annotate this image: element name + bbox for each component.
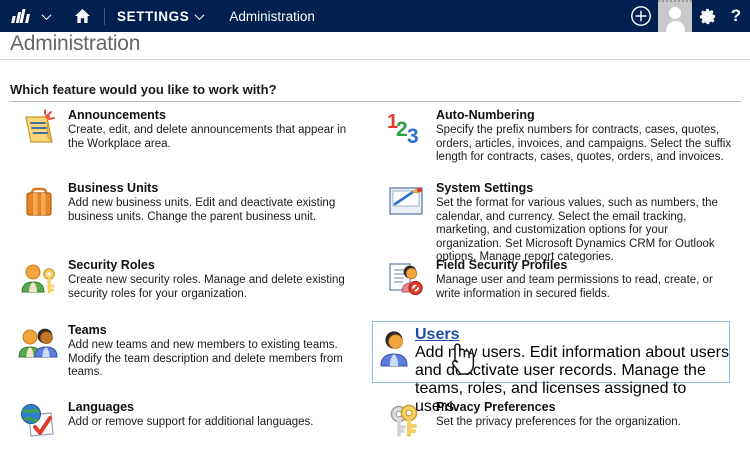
feature-announcements[interactable]: Announcements Create, edit, and delete a… <box>10 107 368 180</box>
feature-security-roles[interactable]: Security Roles Create new security roles… <box>10 257 368 330</box>
feature-title[interactable]: Field Security Profiles <box>436 258 736 273</box>
feature-description: Create new security roles. Manage and de… <box>68 274 358 301</box>
feature-text: Languages Add or remove support for addi… <box>68 399 314 472</box>
svg-text:3: 3 <box>407 125 419 148</box>
feature-text: Announcements Create, edit, and delete a… <box>68 107 358 180</box>
nav-left-group: SETTINGS Administration <box>0 0 315 32</box>
feature-teams[interactable]: Teams Add new teams and new members to e… <box>10 322 368 395</box>
page-title: Administration <box>10 32 140 56</box>
feature-text: Business Units Add new business units. E… <box>68 180 358 253</box>
nav-right-group: ? <box>624 0 750 32</box>
heading-divider <box>10 101 741 102</box>
feature-description: Set the format for various values, such … <box>436 197 736 265</box>
gear-icon[interactable] <box>692 0 722 32</box>
users-card-description: Add new users. Edit information about us… <box>415 344 729 416</box>
feature-field-security-profiles[interactable]: Field Security Profiles Manage user and … <box>378 257 736 330</box>
users-link[interactable]: Users <box>415 326 459 343</box>
feature-title[interactable]: System Settings <box>436 181 736 196</box>
user-avatar-icon[interactable] <box>658 0 692 32</box>
feature-languages[interactable]: Languages Add or remove support for addi… <box>10 399 368 472</box>
feature-title[interactable]: Auto-Numbering <box>436 108 736 123</box>
feature-description: Create, edit, and delete announcements t… <box>68 124 358 151</box>
briefcase-icon <box>10 180 68 228</box>
feature-text: Auto-Numbering Specify the prefix number… <box>436 107 736 180</box>
users-card-title[interactable]: Users <box>415 326 729 344</box>
feature-title[interactable]: Announcements <box>68 108 358 123</box>
user-key-icon <box>10 257 68 305</box>
users-card-text: Users Add new users. Edit information ab… <box>415 326 729 416</box>
feature-question-heading: Which feature would you like to work wit… <box>10 82 277 97</box>
feature-description: Set the privacy preferences for the orga… <box>436 416 681 430</box>
feature-text: Security Roles Create new security roles… <box>68 257 358 330</box>
feature-text: System Settings Set the format for vario… <box>436 180 736 253</box>
feature-title[interactable]: Business Units <box>68 181 358 196</box>
plus-circle-icon[interactable] <box>624 0 658 32</box>
feature-auto-numbering[interactable]: 1 2 3 Auto-Numbering Specify the prefix … <box>378 107 736 180</box>
feature-description: Add or remove support for additional lan… <box>68 416 314 430</box>
window-pencil-icon <box>378 180 436 228</box>
feature-system-settings[interactable]: System Settings Set the format for vario… <box>378 180 736 253</box>
feature-text: Field Security Profiles Manage user and … <box>436 257 736 330</box>
feature-business-units[interactable]: Business Units Add new business units. E… <box>10 180 368 253</box>
help-question-icon[interactable]: ? <box>722 0 750 32</box>
feature-description: Specify the prefix numbers for contracts… <box>436 124 736 165</box>
feature-description: Add new teams and new members to existin… <box>68 339 358 380</box>
users-card-inner: Users Add new users. Edit information ab… <box>373 322 729 416</box>
top-navigation-bar: SETTINGS Administration ? <box>0 0 750 32</box>
feature-users-card[interactable]: Users Add new users. Edit information ab… <box>372 321 730 383</box>
feature-description: Manage user and team permissions to read… <box>436 274 736 301</box>
svg-text:2: 2 <box>396 118 408 141</box>
two-users-icon <box>10 322 68 370</box>
settings-label: SETTINGS <box>117 9 189 24</box>
numbers-123-icon: 1 2 3 <box>378 107 436 155</box>
user-dark-hair-icon <box>375 326 415 416</box>
feature-title[interactable]: Languages <box>68 400 314 415</box>
nav-divider <box>104 8 105 25</box>
page-header: Administration <box>0 32 750 60</box>
feature-title[interactable]: Teams <box>68 323 358 338</box>
chevron-down-icon[interactable] <box>191 0 207 32</box>
feature-description: Add new business units. Edit and deactiv… <box>68 197 358 224</box>
dynamics-logo-icon[interactable] <box>12 9 30 23</box>
chevron-down-icon[interactable] <box>38 0 54 32</box>
settings-menu[interactable]: SETTINGS <box>117 0 207 32</box>
feature-text: Teams Add new teams and new members to e… <box>68 322 358 395</box>
home-icon[interactable] <box>72 0 92 32</box>
breadcrumb[interactable]: Administration <box>229 9 315 24</box>
globe-check-icon <box>10 399 68 447</box>
feature-title[interactable]: Security Roles <box>68 258 358 273</box>
avatar-head <box>669 7 681 19</box>
document-user-block-icon <box>378 257 436 305</box>
announcement-note-icon <box>10 107 68 155</box>
avatar-body <box>666 21 685 32</box>
